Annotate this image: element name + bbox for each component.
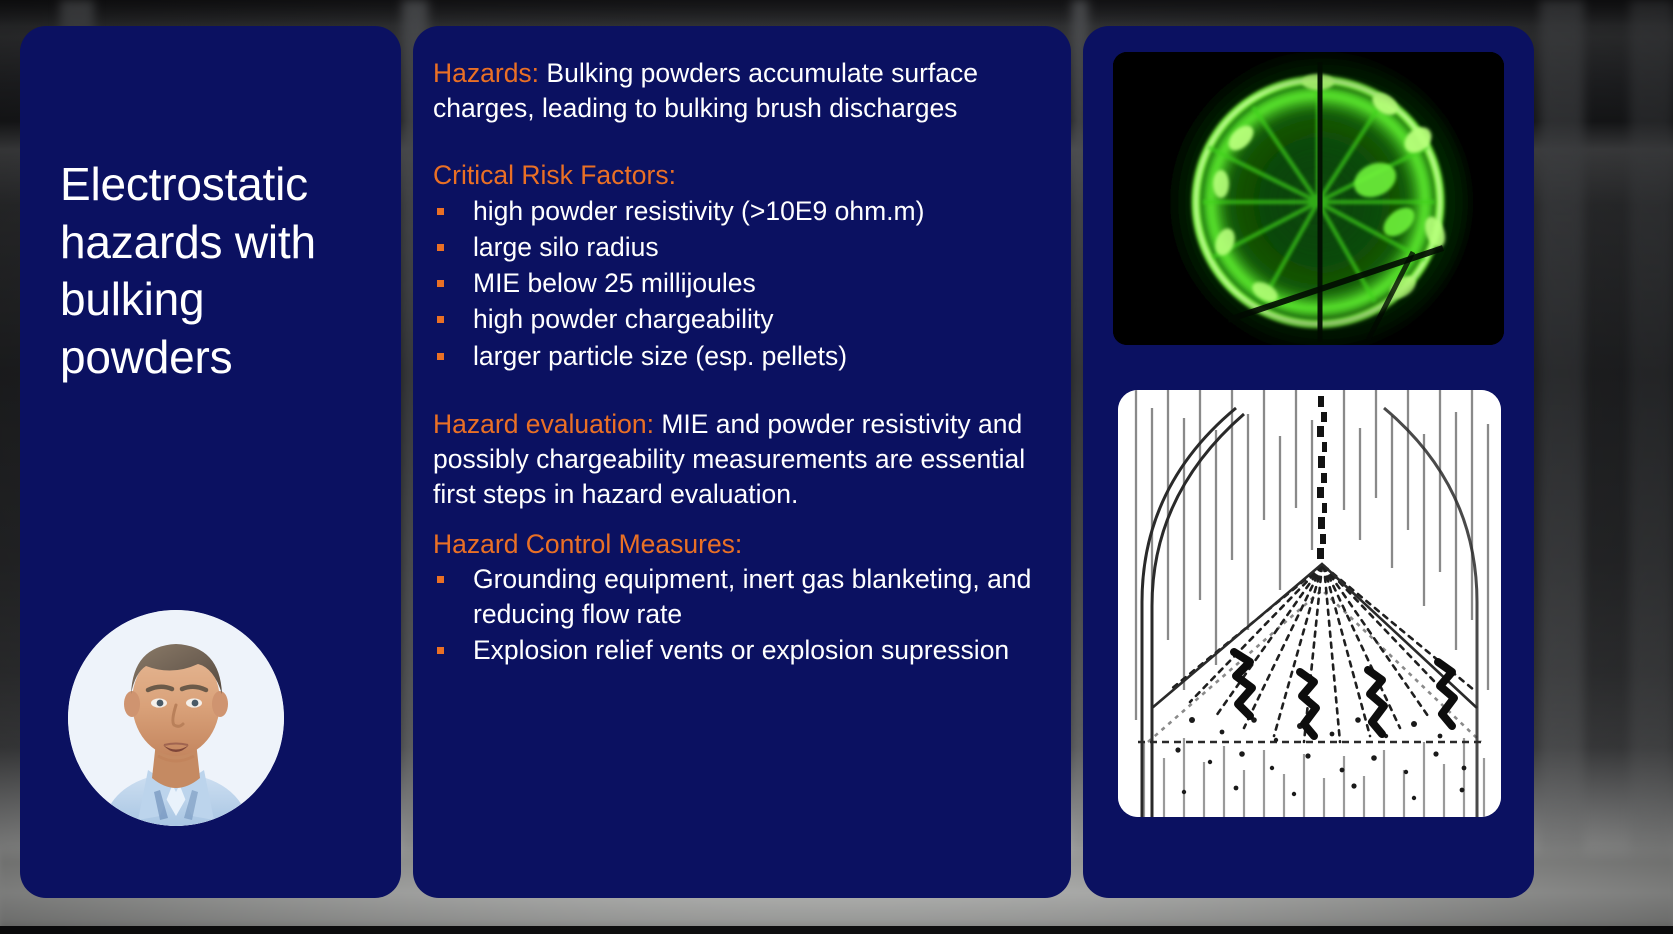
list-item: MIE below 25 millijoules [433,266,1057,301]
brush-discharge-photo [1113,52,1504,345]
silo-cross-section-image [1118,390,1501,817]
hazard-evaluation-paragraph: Hazard evaluation: MIE and powder resist… [433,407,1057,513]
list-item: Grounding equipment, inert gas blanketin… [433,562,1057,632]
slide-stage: Electrostatic hazards with bulking powde… [0,0,1673,934]
hazards-lead: Hazards: [433,58,539,88]
spacer [433,375,1057,407]
silo-diagram [1118,390,1501,817]
page-title: Electrostatic hazards with bulking powde… [60,156,370,387]
avatar [68,610,284,826]
control-measures-heading: Hazard Control Measures: [433,527,1057,562]
risk-factors-list: high powder resistivity (>10E9 ohm.m) la… [433,194,1057,374]
risk-factors-heading: Critical Risk Factors: [433,158,1057,193]
hazards-paragraph: Hazards: Bulking powders accumulate surf… [433,56,1057,126]
brush-discharge-image [1113,52,1504,345]
content-card: Hazards: Bulking powders accumulate surf… [413,26,1071,898]
presenter-headshot-illustration [68,610,284,826]
spacer [433,126,1057,158]
hazard-evaluation-lead: Hazard evaluation: [433,409,654,439]
spacer [433,513,1057,527]
list-item: high powder chargeability [433,302,1057,337]
media-card [1083,26,1534,898]
list-item: larger particle size (esp. pellets) [433,339,1057,374]
control-measures-list: Grounding equipment, inert gas blanketin… [433,562,1057,669]
list-item: large silo radius [433,230,1057,265]
list-item: Explosion relief vents or explosion supr… [433,633,1057,668]
title-card: Electrostatic hazards with bulking powde… [20,26,401,898]
content-body: Hazards: Bulking powders accumulate surf… [433,56,1057,670]
list-item: high powder resistivity (>10E9 ohm.m) [433,194,1057,229]
